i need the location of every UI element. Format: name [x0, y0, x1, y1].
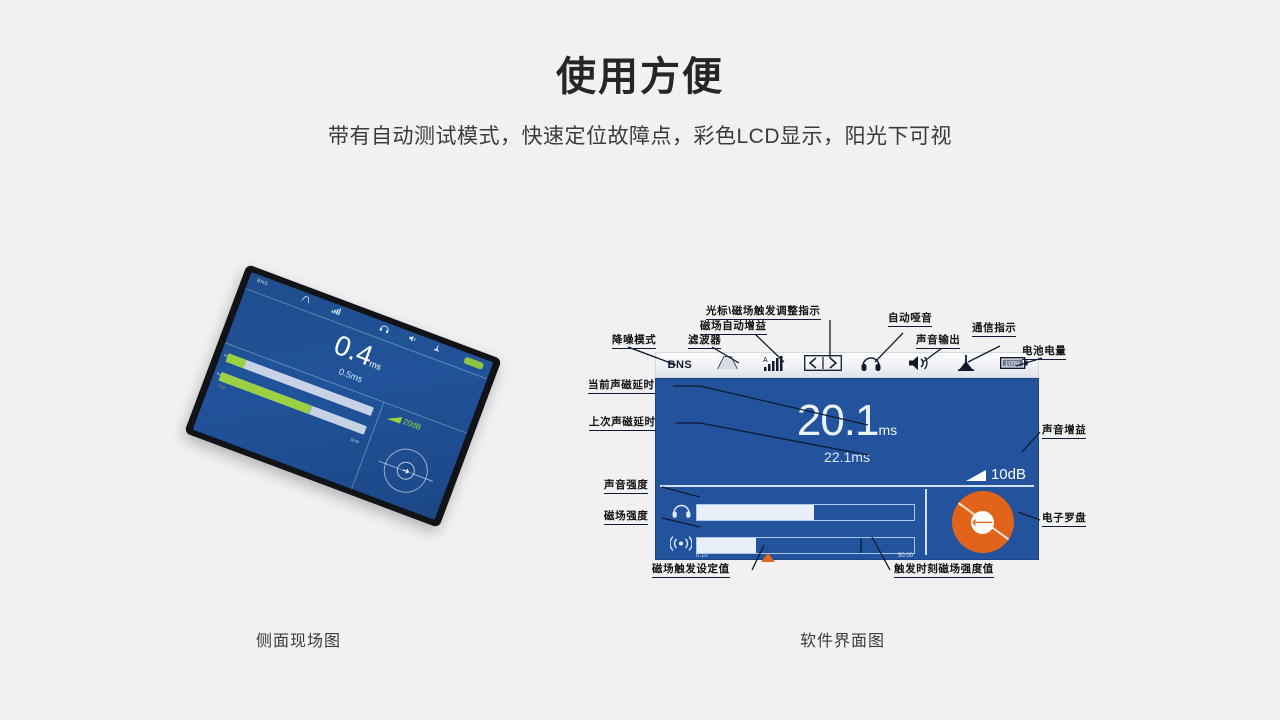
ui-audio-gain-value: 10dB [991, 466, 1026, 483]
status-comm-indicator[interactable] [943, 355, 991, 376]
status-auto-mute[interactable] [847, 355, 895, 376]
annotation-noise-reduction: 降噪模式 [612, 332, 656, 349]
status-noise-reduction-mode[interactable]: BNS [656, 359, 704, 371]
antenna-icon [957, 355, 975, 376]
annotation-audio-output: 声音输出 [916, 332, 960, 349]
annotation-cursor-trigger: 光标\磁场触发调整指示 [706, 303, 821, 320]
ui-field-trigger-mark [860, 538, 862, 553]
status-filter[interactable] [704, 355, 752, 375]
filter-curve-icon [300, 294, 312, 307]
ui-audio-level-bar[interactable] [696, 504, 915, 521]
speaker-icon [407, 334, 419, 347]
device-scale-min: 0.10 [218, 384, 226, 390]
compass-disc: ⟵ [952, 491, 1014, 553]
annotation-audio-gain: 声音增益 [1042, 422, 1086, 439]
ui-readout-panel: 20.1ms 22.1ms 10dB [660, 383, 1034, 487]
device-compass: ➜ [378, 442, 435, 499]
device-gain-indicator: 20dB [387, 411, 423, 432]
headset-icon [861, 355, 881, 376]
left-right-arrows-icon [804, 355, 842, 376]
svg-text:A: A [763, 357, 768, 364]
status-field-auto-gain[interactable]: A [752, 355, 800, 376]
speaker-icon [908, 355, 930, 376]
ui-audio-row [666, 503, 915, 522]
ui-current-delay-unit: ms [878, 422, 897, 438]
ui-previous-delay: 22.1ms [660, 449, 1034, 465]
bns-label: BNS [668, 359, 693, 371]
svg-text:100%: 100% [1005, 361, 1021, 367]
headset-icon [379, 323, 391, 336]
page-title: 使用方便 [0, 44, 1280, 102]
annotation-field-trigger-setpoint: 磁场触发设定值 [652, 561, 730, 578]
battery-full-icon [463, 356, 484, 370]
device-screen: BNS [193, 272, 493, 520]
device-bns-label: BNS [256, 278, 269, 288]
caption-right: 软件界面图 [800, 627, 885, 651]
signal-bars-icon [330, 305, 342, 318]
auto-gain-bars-icon: A [763, 355, 787, 376]
headphone-icon [666, 503, 696, 522]
ui-current-delay: 20.1ms [660, 399, 1034, 443]
ui-screen: 20.1ms 22.1ms 10dB [655, 378, 1039, 560]
ui-electronic-compass[interactable]: ⟵ [931, 489, 1034, 555]
ui-meters-panel: 0.10 50.00 ⟵ [660, 489, 1034, 555]
ui-statusbar: BNS A [655, 352, 1039, 378]
annotation-comm-indicator: 通信指示 [972, 320, 1016, 337]
compass-arrow-left-icon: ⟵ [971, 511, 994, 534]
annotation-auto-mute: 自动哑音 [888, 310, 932, 327]
annotation-previous-delay: 上次声磁延时 [589, 414, 656, 431]
ui-scale-max: 50.00 [898, 553, 913, 559]
annotation-battery-level: 电池电量 [1022, 343, 1066, 360]
ui-field-level-fill [697, 538, 756, 553]
compass-arrow-icon: ➜ [394, 459, 417, 482]
caption-left: 侧面现场图 [256, 627, 341, 651]
ui-field-trigger-setpoint[interactable] [761, 553, 775, 562]
ui-bars: 0.10 50.00 [660, 489, 927, 555]
ui-audio-level-fill [697, 505, 814, 520]
handheld-device: BNS [184, 264, 502, 528]
software-ui-mock: BNS A [655, 352, 1039, 560]
annotation-current-delay: 当前声磁延时 [588, 377, 655, 394]
device-gain-value: 20dB [402, 417, 423, 432]
status-audio-output[interactable] [895, 355, 943, 376]
ui-audio-gain[interactable]: 10dB [966, 466, 1026, 483]
ui-field-level-bar[interactable] [696, 537, 915, 554]
annotation-field-strength: 磁场强度 [604, 508, 648, 525]
field-wave-icon [666, 536, 696, 555]
ui-scale-min: 0.10 [696, 553, 708, 559]
gain-wedge-icon [387, 412, 403, 423]
device-main-unit: ms [368, 359, 383, 373]
annotation-field-strength-at-trigger: 触发时刻磁场强度值 [894, 561, 994, 578]
annotation-field-auto-gain: 磁场自动增益 [700, 318, 767, 335]
device-scale-max: 50.00 [350, 438, 360, 445]
gain-wedge-icon [966, 470, 986, 481]
antenna-icon [431, 343, 443, 356]
filter-curve-icon [717, 355, 739, 375]
device-photo: BNS [185, 288, 495, 583]
slide-root: 使用方便 带有自动测试模式，快速定位故障点，彩色LCD显示，阳光下可视 BNS [0, 0, 1280, 720]
annotation-compass: 电子罗盘 [1042, 510, 1086, 527]
page-subtitle: 带有自动测试模式，快速定位故障点，彩色LCD显示，阳光下可视 [0, 120, 1280, 150]
status-cursor-trigger-adjust[interactable] [799, 355, 847, 376]
annotation-audio-strength: 声音强度 [604, 477, 648, 494]
